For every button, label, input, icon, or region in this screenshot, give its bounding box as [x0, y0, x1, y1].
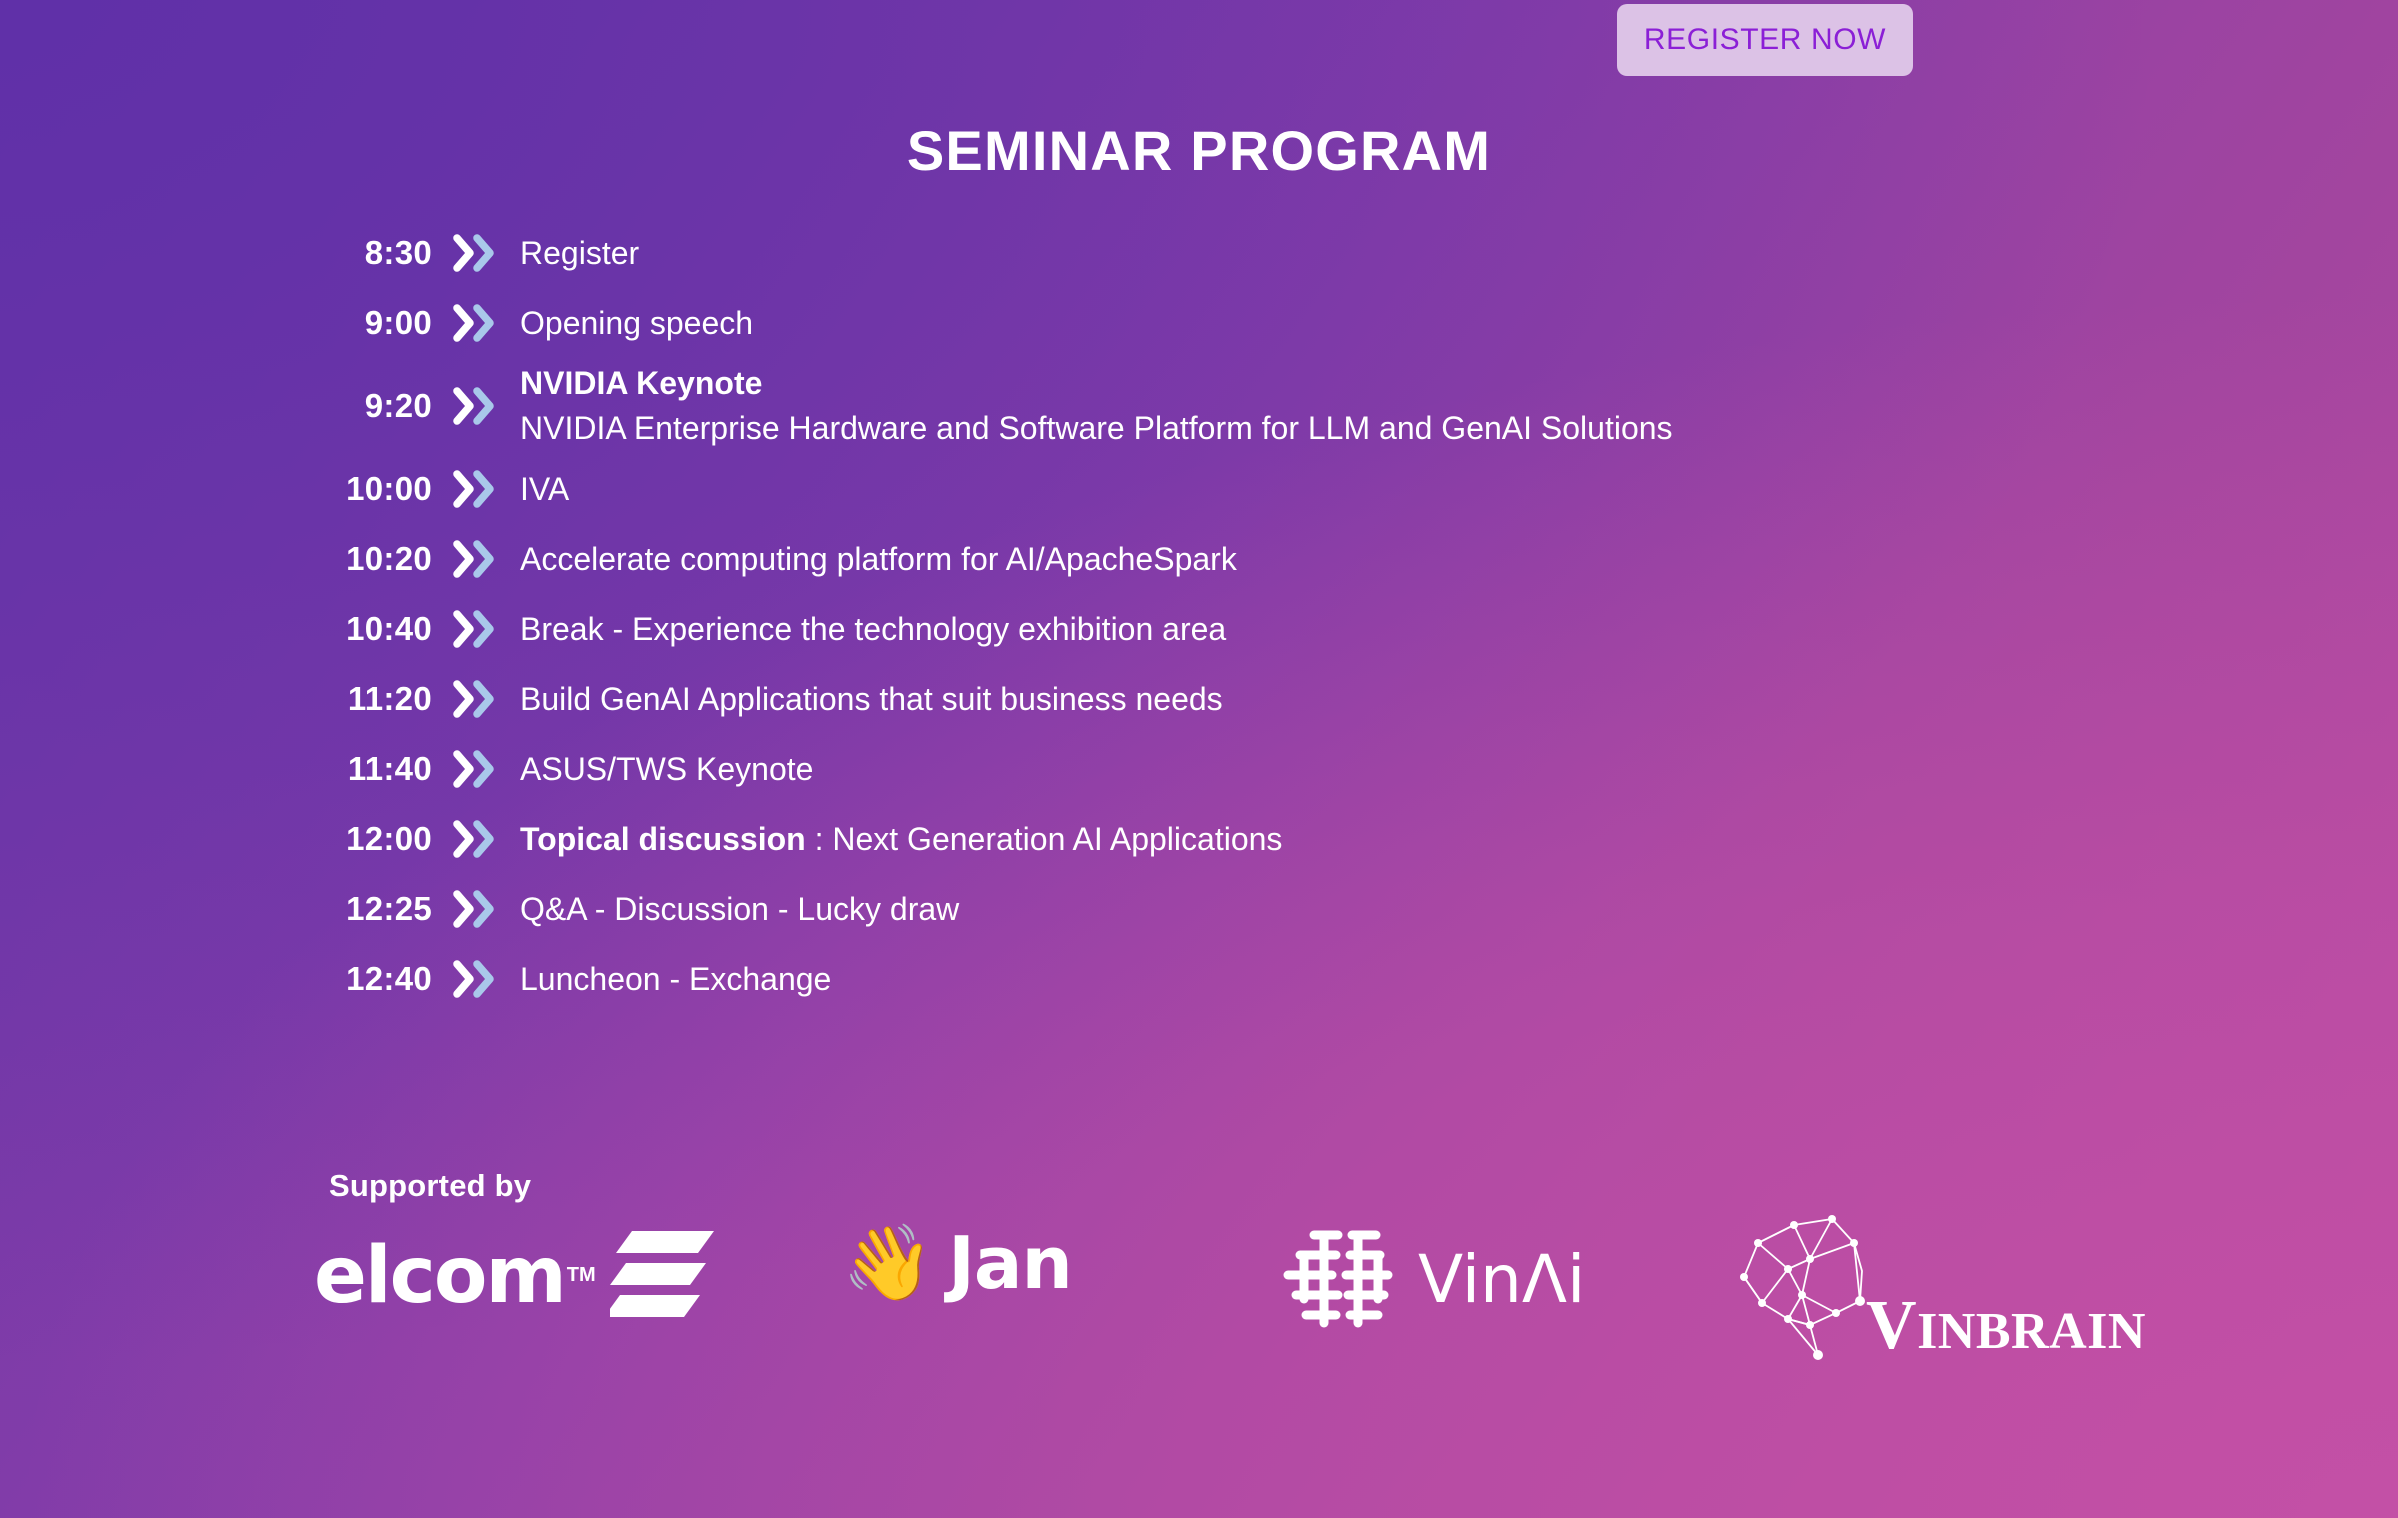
vinbrain-rest: INBRAIN	[1917, 1303, 2146, 1360]
double-chevron-right-icon	[432, 539, 518, 579]
schedule-row: 9:00Opening speech	[300, 288, 2000, 358]
schedule-item-subtitle: NVIDIA Enterprise Hardware and Software …	[520, 408, 1673, 449]
schedule-item-label: : Next Generation AI Applications	[806, 821, 1283, 857]
schedule-row: 10:00IVA	[300, 454, 2000, 524]
sponsor-logo-elcom: elcomTM	[314, 1227, 714, 1324]
schedule-item-text: Register	[518, 233, 639, 274]
schedule-list: 8:30Register9:00Opening speech9:20NVIDIA…	[300, 218, 2000, 1014]
schedule-row: 11:20Build GenAI Applications that suit …	[300, 664, 2000, 734]
schedule-item-text: Accelerate computing platform for AI/Apa…	[518, 539, 1237, 580]
schedule-time: 12:25	[300, 890, 432, 928]
schedule-row: 12:00Topical discussion : Next Generatio…	[300, 804, 2000, 874]
schedule-time: 12:40	[300, 960, 432, 998]
double-chevron-right-icon	[432, 679, 518, 719]
schedule-item-bold-prefix: Topical discussion	[520, 821, 806, 857]
schedule-item-text: Q&A - Discussion - Lucky draw	[518, 889, 959, 930]
double-chevron-right-icon	[432, 889, 518, 929]
schedule-item-text: Luncheon - Exchange	[518, 959, 831, 1000]
schedule-row: 8:30Register	[300, 218, 2000, 288]
schedule-row: 10:20Accelerate computing platform for A…	[300, 524, 2000, 594]
schedule-time: 11:40	[300, 750, 432, 788]
schedule-time: 8:30	[300, 234, 432, 272]
jan-wordmark: Jan	[948, 1221, 1072, 1305]
double-chevron-right-icon	[432, 469, 518, 509]
double-chevron-right-icon	[432, 819, 518, 859]
sponsor-logo-jan: 👋 Jan	[842, 1221, 1072, 1305]
double-chevron-right-icon	[432, 386, 518, 426]
sponsor-logo-vinai: VinΛi	[1280, 1223, 1585, 1336]
page-title: SEMINAR PROGRAM	[0, 118, 2398, 183]
schedule-time: 10:00	[300, 470, 432, 508]
vinbrain-wordmark: VINBRAIN	[1866, 1286, 2146, 1366]
schedule-item-text: ASUS/TWS Keynote	[518, 749, 813, 790]
vinai-circuit-mark-icon	[1280, 1223, 1400, 1336]
schedule-item-text: Opening speech	[518, 303, 753, 344]
double-chevron-right-icon	[432, 233, 518, 273]
schedule-time: 9:20	[300, 387, 432, 425]
schedule-row: 9:20NVIDIA KeynoteNVIDIA Enterprise Hard…	[300, 358, 2000, 454]
double-chevron-right-icon	[432, 959, 518, 999]
elcom-e-mark-icon	[610, 1227, 714, 1324]
schedule-time: 12:00	[300, 820, 432, 858]
waving-hand-icon: 👋	[842, 1226, 934, 1300]
schedule-item-text: Topical discussion : Next Generation AI …	[518, 819, 1282, 860]
double-chevron-right-icon	[432, 609, 518, 649]
schedule-item-text: NVIDIA KeynoteNVIDIA Enterprise Hardware…	[518, 363, 1673, 449]
schedule-time: 11:20	[300, 680, 432, 718]
schedule-item-text: IVA	[518, 469, 569, 510]
schedule-item-title: NVIDIA Keynote	[520, 363, 1673, 404]
sponsor-logo-vinbrain: VINBRAIN	[1732, 1209, 2146, 1370]
schedule-row: 12:25Q&A - Discussion - Lucky draw	[300, 874, 2000, 944]
vinbrain-initial: V	[1866, 1287, 1917, 1364]
schedule-row: 10:40Break - Experience the technology e…	[300, 594, 2000, 664]
trademark-icon: TM	[567, 1264, 596, 1287]
schedule-time: 10:20	[300, 540, 432, 578]
sponsor-logo-strip: elcomTM 👋 Jan	[300, 1215, 2200, 1365]
schedule-row: 11:40ASUS/TWS Keynote	[300, 734, 2000, 804]
schedule-time: 10:40	[300, 610, 432, 648]
vinai-wordmark: VinΛi	[1418, 1241, 1585, 1318]
seminar-program-slide: REGISTER NOW SEMINAR PROGRAM 8:30Registe…	[0, 0, 2398, 1518]
schedule-item-text: Build GenAI Applications that suit busin…	[518, 679, 1223, 720]
schedule-item-text: Break - Experience the technology exhibi…	[518, 609, 1226, 650]
schedule-time: 9:00	[300, 304, 432, 342]
double-chevron-right-icon	[432, 303, 518, 343]
double-chevron-right-icon	[432, 749, 518, 789]
register-now-button[interactable]: REGISTER NOW	[1617, 4, 1913, 76]
schedule-row: 12:40Luncheon - Exchange	[300, 944, 2000, 1014]
supported-by-label: Supported by	[329, 1168, 531, 1204]
elcom-wordmark: elcom	[314, 1237, 565, 1315]
